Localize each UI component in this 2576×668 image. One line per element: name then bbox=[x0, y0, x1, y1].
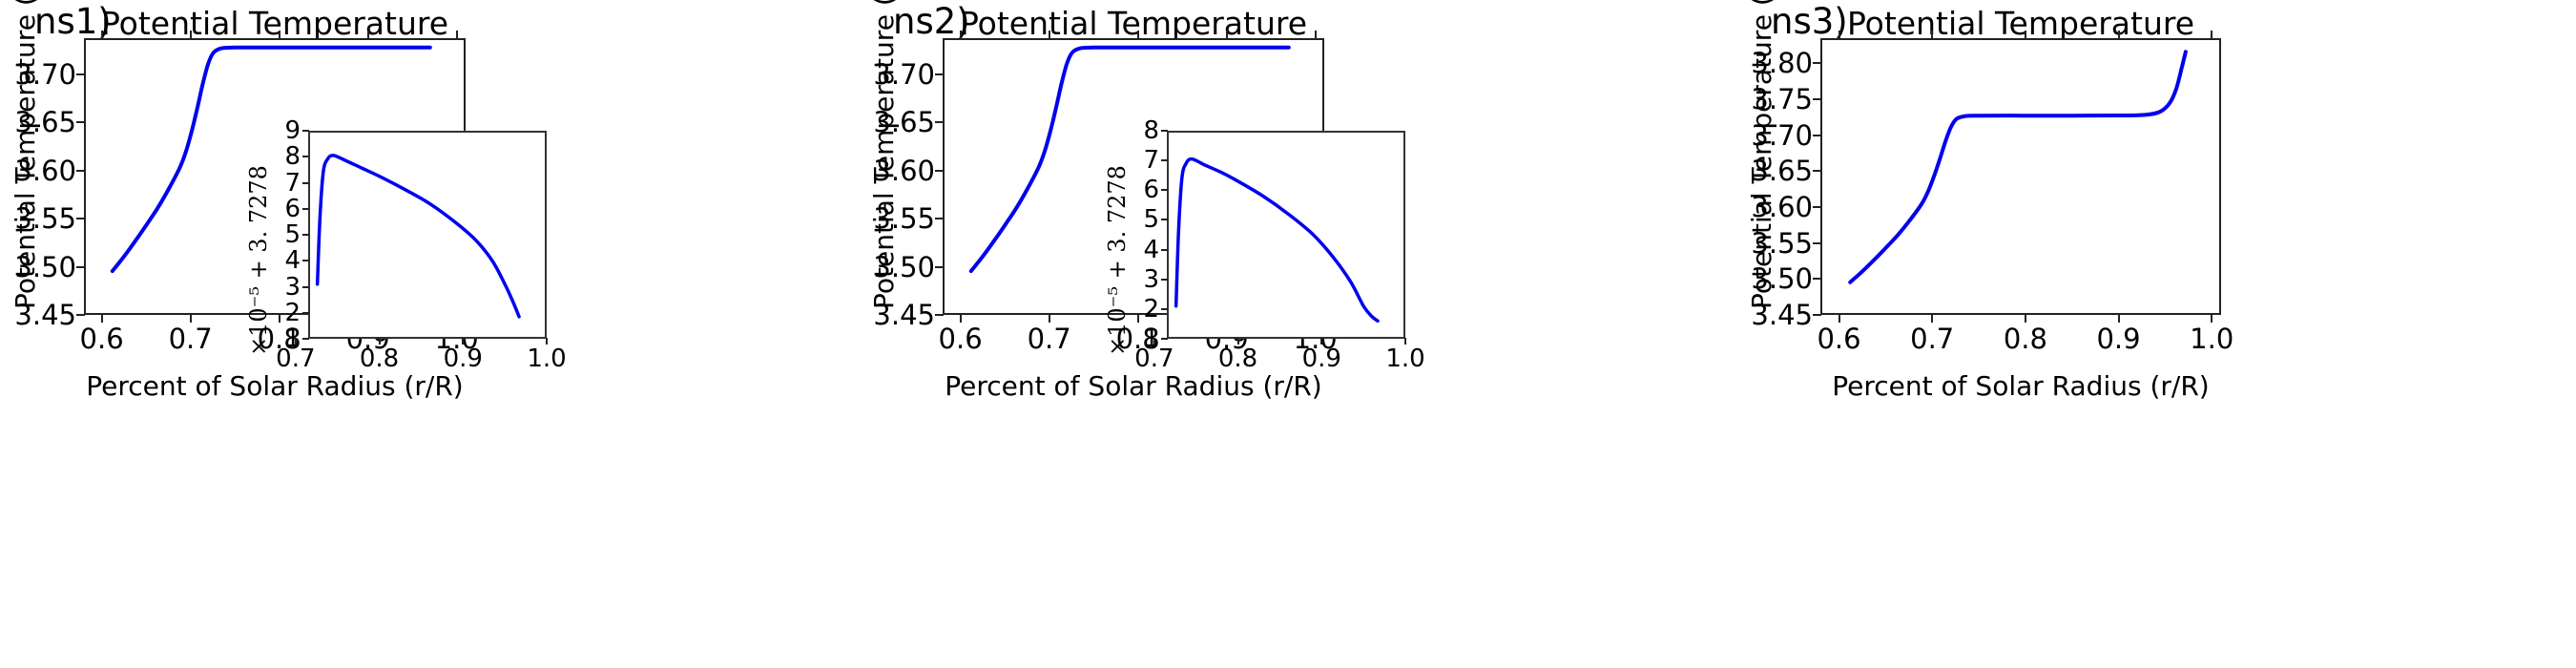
inset-data-curve-2 bbox=[859, 0, 1717, 668]
panel-3: ns3)Potential TemperaturePotential Tempe… bbox=[1717, 0, 2576, 668]
series-line bbox=[1850, 52, 2186, 282]
figure-root: ns1)Potential TemperaturePotential Tempe… bbox=[0, 0, 2576, 668]
panel-2: ns2)Potential TemperaturePotential Tempe… bbox=[859, 0, 1717, 668]
panel-1: ns1)Potential TemperaturePotential Tempe… bbox=[0, 0, 859, 668]
data-curve-3 bbox=[1717, 0, 2576, 668]
inset-series-line bbox=[318, 156, 519, 317]
inset-data-curve-1 bbox=[0, 0, 859, 668]
inset-series-line bbox=[1176, 159, 1378, 322]
